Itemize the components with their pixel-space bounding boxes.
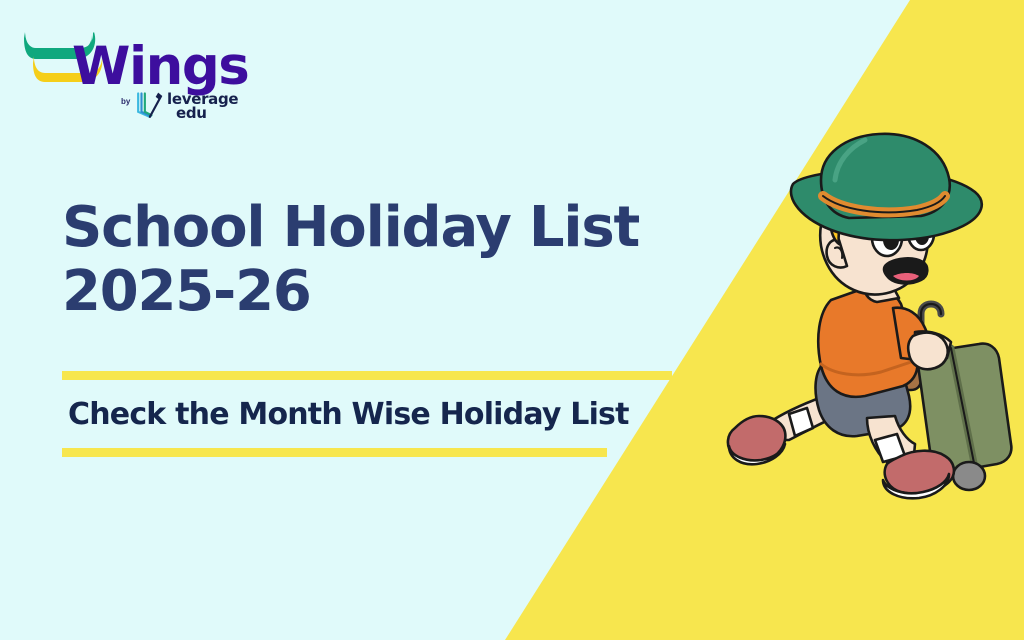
holiday-list-banner: Wings by leverage edu School Holiday Lis… xyxy=(0,0,1024,640)
boy-with-suitcase-illustration xyxy=(715,128,1024,518)
book-pencil-icon xyxy=(134,90,164,122)
leverage-edu-sublogo: leverage edu xyxy=(134,88,244,128)
sub-brand-line-2: edu xyxy=(167,106,238,120)
subtitle-rule-top xyxy=(62,371,672,380)
logo-wordmark: Wings xyxy=(72,40,248,93)
logo-by-label: by xyxy=(121,97,130,106)
wings-logo[interactable]: Wings by leverage edu xyxy=(22,26,262,136)
leverage-edu-text: leverage edu xyxy=(167,92,238,121)
subtitle-text: Check the Month Wise Holiday List xyxy=(62,380,672,448)
subtitle-rule-bottom xyxy=(62,448,607,457)
page-title: School Holiday List 2025-26 xyxy=(62,196,639,324)
subtitle-band: Check the Month Wise Holiday List xyxy=(62,371,672,457)
